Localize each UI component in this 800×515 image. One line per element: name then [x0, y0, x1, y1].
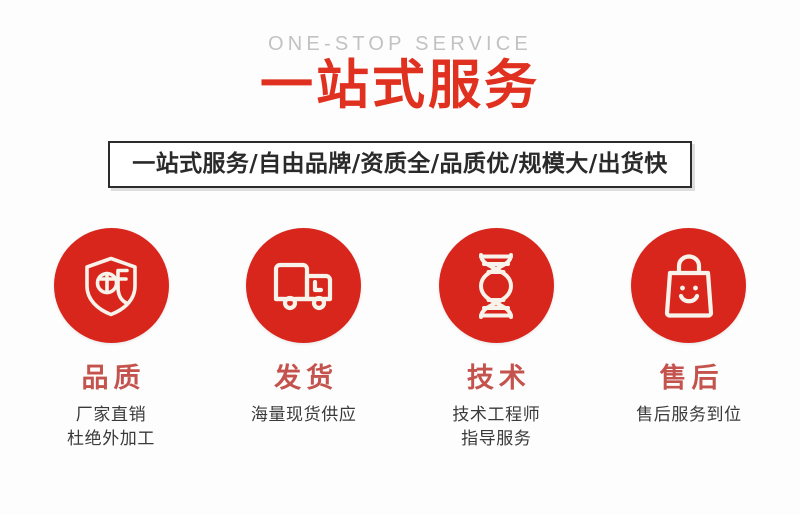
feature-icon-circle [631, 228, 746, 343]
feature-title: 品质 [77, 365, 146, 392]
feature-description-line: 指导服务 [452, 427, 540, 451]
shield-quality-icon [78, 253, 144, 319]
feature-description: 售后服务到位 [636, 403, 742, 427]
feature-title: 发货 [269, 365, 338, 392]
eyebrow-text: ONE-STOP SERVICE [0, 33, 800, 56]
feature-description-line: 厂家直销 [67, 403, 155, 427]
tagline-box: 一站式服务/自由品牌/资质全/品质优/规模大/出货快 [108, 141, 691, 188]
feature-item-technology[interactable]: 技术 技术工程师 指导服务 [401, 228, 591, 451]
feature-icon-circle [54, 228, 169, 343]
feature-description-line: 售后服务到位 [636, 403, 742, 427]
promo-banner: ONE-STOP SERVICE 一站式服务 一站式服务/自由品牌/资质全/品质… [0, 0, 800, 515]
feature-description: 海量现货供应 [251, 403, 357, 427]
feature-item-quality[interactable]: 品质 厂家直销 杜绝外加工 [16, 228, 206, 451]
feature-item-shipping[interactable]: 发货 海量现货供应 [209, 228, 399, 451]
feature-list: 品质 厂家直销 杜绝外加工 发货 [0, 228, 800, 451]
feature-description: 技术工程师 指导服务 [452, 403, 540, 451]
feature-description-line: 海量现货供应 [251, 403, 357, 427]
feature-description-line: 杜绝外加工 [67, 427, 155, 451]
feature-title: 技术 [462, 365, 531, 392]
page-title: 一站式服务 [0, 57, 800, 114]
delivery-truck-icon [270, 257, 338, 315]
feature-item-aftersales[interactable]: 售后 售后服务到位 [594, 228, 784, 451]
dna-helix-icon [467, 251, 525, 321]
smiling-shopping-bag-icon [660, 253, 718, 319]
feature-icon-circle [439, 228, 554, 343]
feature-title: 售后 [654, 365, 723, 392]
feature-description: 厂家直销 杜绝外加工 [67, 403, 155, 451]
feature-description-line: 技术工程师 [452, 403, 540, 427]
feature-icon-circle [246, 228, 361, 343]
tagline-container: 一站式服务/自由品牌/资质全/品质优/规模大/出货快 [0, 141, 800, 188]
